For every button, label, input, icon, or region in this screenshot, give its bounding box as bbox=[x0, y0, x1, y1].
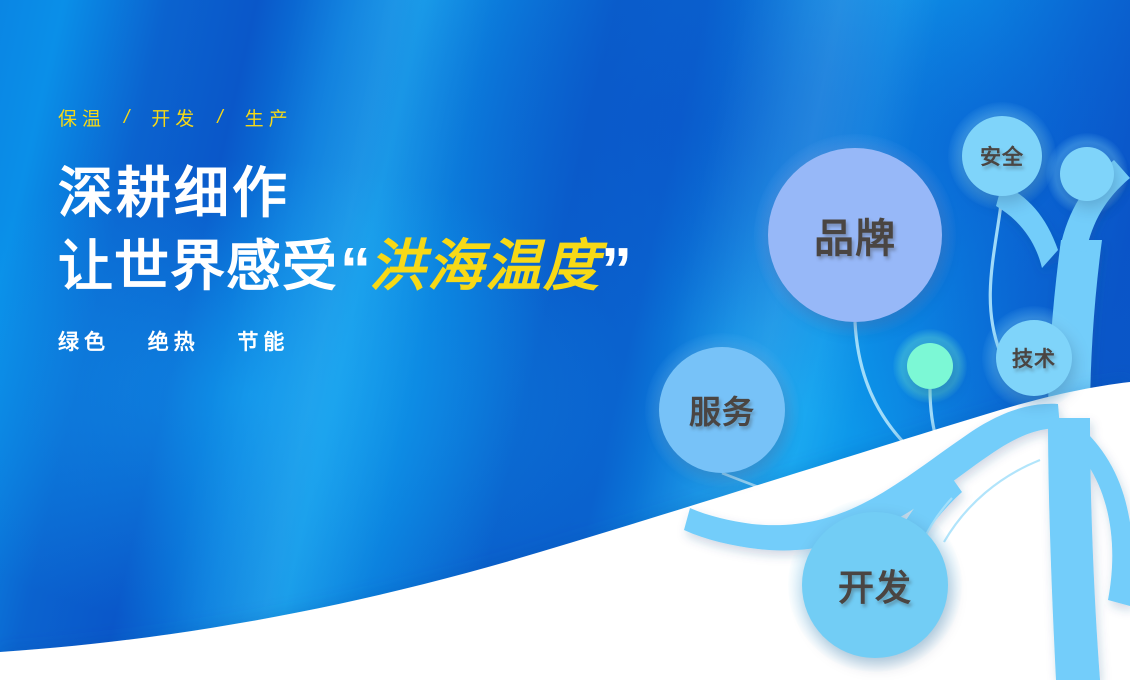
stem-safety bbox=[990, 196, 1002, 352]
branch-upper-left bbox=[996, 184, 1058, 268]
bubble-safety[interactable]: 安全 bbox=[962, 116, 1042, 196]
eyebrow-separator-2: / bbox=[217, 107, 222, 129]
bubble-label: 开发 bbox=[838, 559, 912, 611]
headline-line-1: 深耕细作 bbox=[58, 165, 818, 222]
bubble-service[interactable]: 服务 bbox=[659, 347, 785, 473]
bubble-label: 品牌 bbox=[814, 206, 896, 264]
bubble-tech[interactable]: 技术 bbox=[996, 320, 1072, 396]
bubble-label: 技术 bbox=[1012, 343, 1056, 373]
hero-banner: 保温 / 开发 / 生产 深耕细作 让世界感受 “ 洪海温度 ” 绿色 绝热 节… bbox=[0, 0, 1130, 680]
bubble-label: 安全 bbox=[980, 141, 1024, 171]
eyebrow-line: 保温 / 开发 / 生产 bbox=[58, 104, 818, 131]
white-swoosh bbox=[0, 382, 1130, 680]
headline-accent: 洪海温度 bbox=[369, 236, 601, 295]
eyebrow-item-1: 保温 bbox=[58, 104, 106, 131]
copy-block: 保温 / 开发 / 生产 深耕细作 让世界感受 “ 洪海温度 ” 绿色 绝热 节… bbox=[58, 104, 818, 356]
eyebrow-item-2: 开发 bbox=[151, 104, 199, 131]
eyebrow-item-3: 生产 bbox=[245, 104, 293, 131]
quote-close-icon: ” bbox=[601, 240, 632, 302]
bubble-mint[interactable] bbox=[907, 343, 953, 389]
bubble-brand[interactable]: 品牌 bbox=[768, 148, 942, 322]
quote-open-icon: “ bbox=[340, 240, 371, 302]
bubble-plain-1[interactable] bbox=[1060, 147, 1114, 201]
headline-white-prefix: 让世界感受 bbox=[58, 237, 338, 295]
eyebrow-separator-1: / bbox=[124, 107, 129, 129]
subline-item-3: 节能 bbox=[237, 331, 289, 354]
bubble-develop[interactable]: 开发 bbox=[802, 512, 948, 658]
headline-line-2: 让世界感受 “ 洪海温度 ” bbox=[58, 234, 818, 296]
bubble-label: 服务 bbox=[689, 387, 755, 433]
subline-item-1: 绿色 bbox=[58, 331, 110, 354]
subline-item-2: 绝热 bbox=[148, 331, 200, 354]
